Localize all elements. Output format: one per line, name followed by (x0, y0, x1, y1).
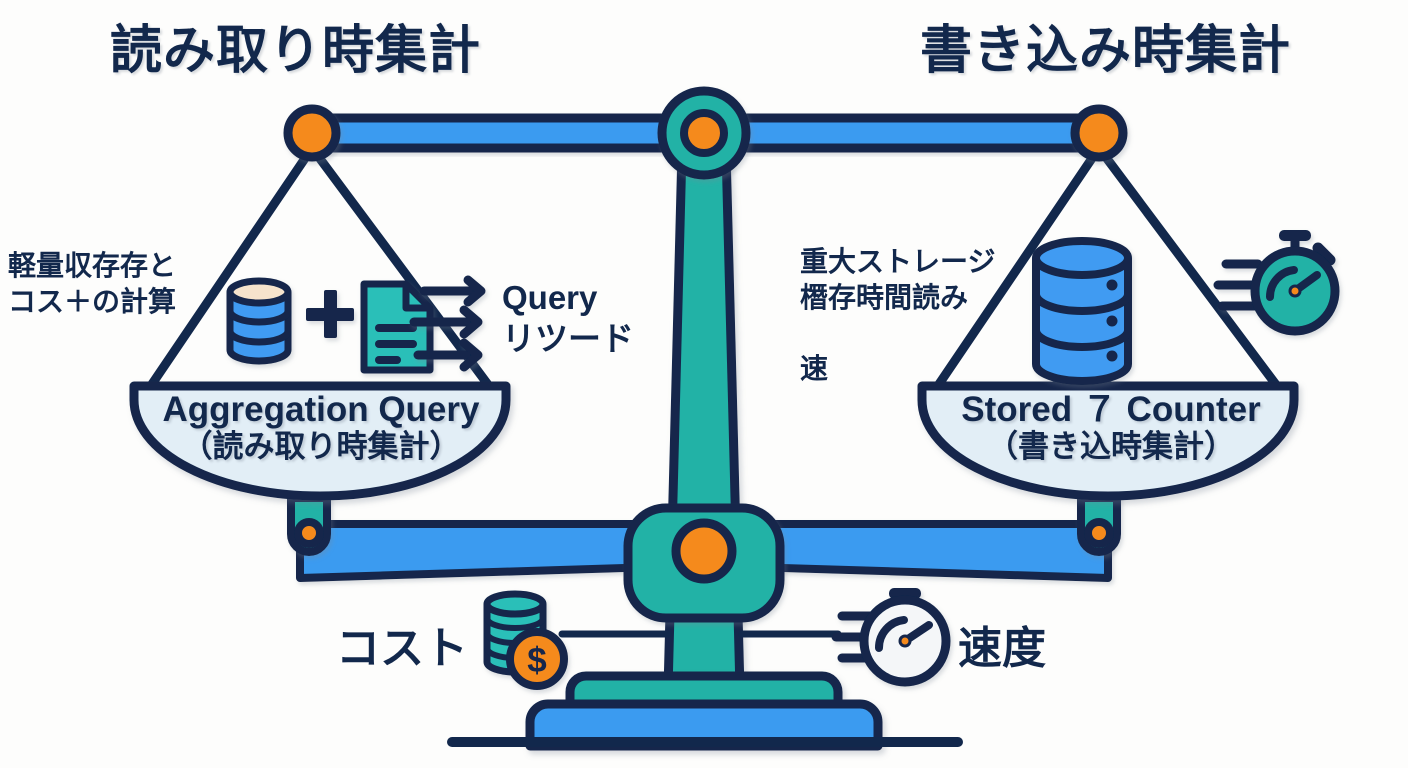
arrows-icon (414, 280, 481, 367)
stopwatch-crown (1279, 230, 1311, 241)
lower-pivot-hub (628, 508, 780, 618)
title-write-time-aggregation: 書き込み時集計 (920, 8, 1291, 83)
right-side-note: 重大ストレージ 橬存時間読み 速 (800, 244, 995, 387)
plus-icon (306, 290, 354, 338)
pan-hanger-left (291, 498, 327, 552)
scale-base (530, 676, 878, 746)
query-read-label: Query リツード (502, 278, 634, 360)
svg-text:$: $ (527, 641, 546, 680)
coins-dollar-icon: $ (487, 594, 564, 686)
left-pan (134, 386, 506, 496)
title-read-time-aggregation: 読み取り時集計 (110, 8, 481, 83)
speed-label: 速度 (958, 612, 1046, 676)
database-icon (1036, 241, 1128, 381)
left-side-note: 軽量収存存と コス＋の計算 (8, 248, 176, 320)
pan-hanger-right (1081, 498, 1117, 552)
diagram-canvas: $ 読み取り時集計 書き込み時集計 軽量収存存と コス＋の計算 重大ストレージ … (0, 0, 1408, 768)
beam-end-right (1075, 109, 1123, 157)
cost-label: コスト (336, 612, 468, 676)
stopwatch-icon (836, 588, 946, 682)
right-pan (922, 386, 1294, 496)
balance-scale-illustration: $ (0, 0, 1408, 768)
database-icon (230, 281, 288, 361)
stopwatch-icon (1218, 230, 1335, 331)
center-pivot (662, 91, 746, 175)
beam-end-left (288, 109, 336, 157)
lower-pivot-dot (676, 523, 732, 579)
